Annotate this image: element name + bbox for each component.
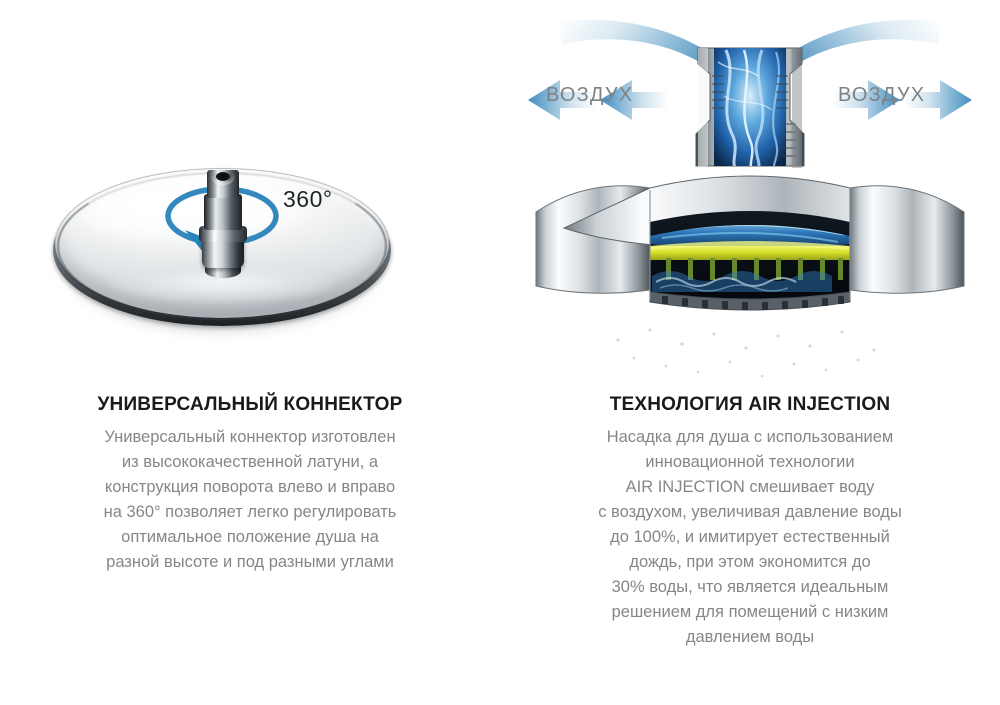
infographic-page: 360° УНИВЕРСАЛЬНЫЙ КОННЕКТОР Универсальн… — [0, 0, 1000, 705]
caption-line: на 360° позволяет легко регулировать — [50, 500, 450, 525]
caption-line: из высококачественной латуни, а — [50, 450, 450, 475]
caption-title-air-injection: ТЕХНОЛОГИЯ AIR INJECTION — [500, 393, 1000, 417]
shower-head-body — [536, 176, 964, 310]
swivel-connector — [190, 164, 256, 274]
connector-bore-inner — [216, 172, 230, 181]
air-label-left: ВОЗДУХ — [546, 84, 633, 107]
figure-shower-head-disc: 360° — [0, 0, 500, 390]
spray-droplets — [616, 329, 875, 378]
caption-line: решением для помещений с низким — [550, 600, 950, 625]
aerated-water-mix — [652, 271, 832, 292]
caption-body-universal-connector: Универсальный коннектор изготовлен из вы… — [50, 425, 450, 575]
caption-line: дождь, при этом экономится до — [550, 550, 950, 575]
caption-line: оптимальное положение душа на — [50, 525, 450, 550]
air-label-right: ВОЗДУХ — [838, 84, 925, 107]
caption-line: Универсальный коннектор изготовлен — [50, 425, 450, 450]
caption-line: Насадка для душа с использованием — [550, 425, 950, 450]
caption-air-injection: ТЕХНОЛОГИЯ AIR INJECTION Насадка для душ… — [500, 393, 1000, 650]
caption-line: конструкция поворота влево и вправо — [50, 475, 450, 500]
caption-line: с воздухом, увеличивая давление воды — [550, 500, 950, 525]
caption-line: давлением воды — [550, 625, 950, 650]
panel-universal-connector: 360° УНИВЕРСАЛЬНЫЙ КОННЕКТОР Универсальн… — [0, 0, 500, 705]
caption-line: до 100%, и имитирует естественный — [550, 525, 950, 550]
cutaway-illustration — [500, 0, 1000, 390]
caption-title-universal-connector: УНИВЕРСАЛЬНЫЙ КОННЕКТОР — [0, 393, 500, 417]
shower-head-disc-illustration: 360° — [47, 160, 397, 345]
rotation-degree-label: 360° — [283, 186, 333, 213]
caption-line: разной высоте и под разными углами — [50, 550, 450, 575]
figure-shower-head-cutaway — [500, 0, 1000, 390]
connector-lower-collar — [202, 238, 244, 268]
connector-body — [204, 194, 242, 230]
water-spray-icon — [612, 306, 882, 390]
caption-universal-connector: УНИВЕРСАЛЬНЫЙ КОННЕКТОР Универсальный ко… — [0, 393, 500, 575]
caption-line: AIR INJECTION смешивает воду — [550, 475, 950, 500]
caption-line: инновационной технологии — [550, 450, 950, 475]
caption-body-air-injection: Насадка для душа с использованием иннова… — [550, 425, 950, 650]
turbulent-water-in-stem — [714, 48, 786, 170]
connector-stem-cutaway — [696, 48, 804, 170]
caption-line: 30% воды, что является идеальным — [550, 575, 950, 600]
